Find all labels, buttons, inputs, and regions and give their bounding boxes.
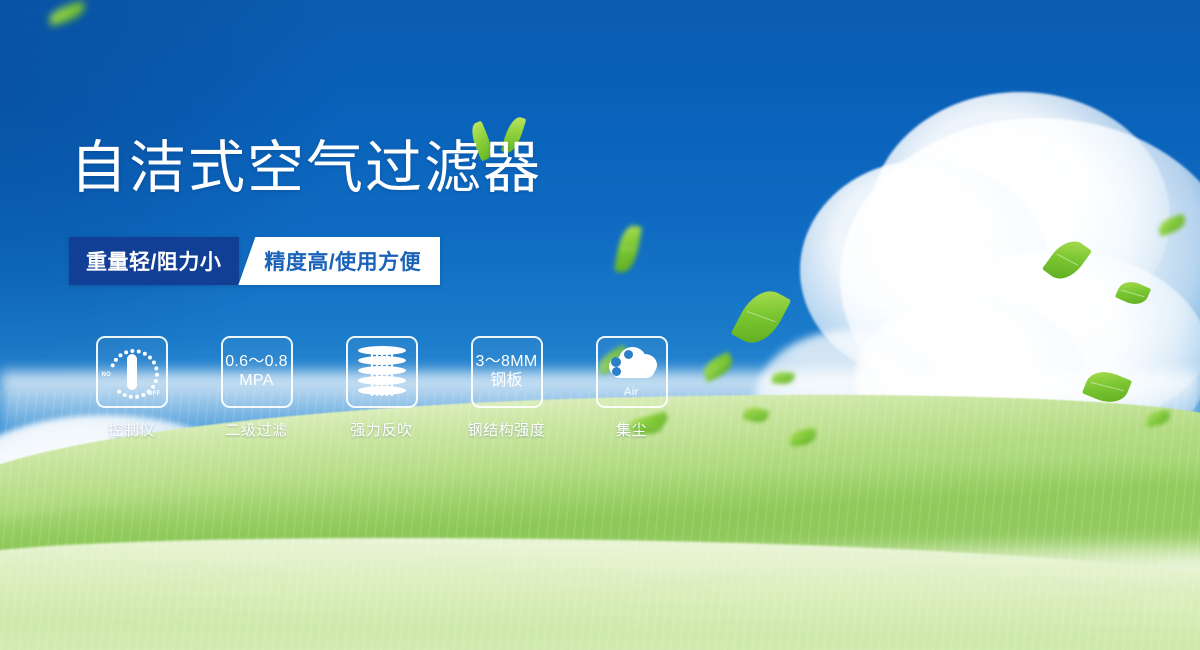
- control-dial-icon: NO OFF: [103, 344, 161, 400]
- feature-caption: 控制仪: [108, 419, 155, 440]
- feature-icon-box: [346, 336, 418, 408]
- dial-pointer: [127, 354, 137, 390]
- feature-item-two-stage-filter[interactable]: 0.6〜0.8 MPA 二级过滤: [194, 336, 319, 440]
- feature-item-control-meter[interactable]: NO OFF: [69, 336, 194, 440]
- subtitle-bar: 重量轻/阻力小 精度高/使用方便: [69, 237, 440, 285]
- blowback-coil-icon: [358, 344, 406, 400]
- pressure-value-line2: MPA: [239, 372, 273, 391]
- banner-title: 自洁式空气过滤器: [70, 140, 542, 197]
- feature-caption: 二级过滤: [225, 419, 287, 440]
- feature-item-strong-blowback[interactable]: 强力反吹: [319, 336, 444, 440]
- feature-icon-box: Air: [596, 336, 668, 408]
- feature-icon-box: 3〜8MM 钢板: [471, 336, 543, 408]
- subtitle-left-tag: 重量轻/阻力小: [69, 237, 239, 285]
- feature-item-dust-collection[interactable]: Air 集尘: [569, 336, 694, 440]
- dial-on-label: NO: [102, 372, 112, 378]
- feature-icon-box: NO OFF: [96, 336, 168, 408]
- feature-icon-box: 0.6〜0.8 MPA: [221, 336, 293, 408]
- subtitle-right-tag: 精度高/使用方便: [238, 237, 440, 285]
- feature-item-steel-strength[interactable]: 3〜8MM 钢板 钢结构强度: [444, 336, 569, 440]
- feature-caption: 强力反吹: [350, 419, 412, 440]
- air-cloud-icon: [605, 345, 659, 385]
- product-banner: 自洁式空气过滤器 重量轻/阻力小 精度高/使用方便 NO OFF: [0, 0, 1200, 650]
- feature-caption: 集尘: [616, 419, 647, 440]
- steel-value-line2: 钢板: [490, 372, 523, 391]
- pressure-value-line1: 0.6〜0.8: [225, 353, 288, 372]
- feature-caption: 钢结构强度: [467, 419, 545, 440]
- air-label: Air: [624, 386, 639, 398]
- banner-content: 自洁式空气过滤器 重量轻/阻力小 精度高/使用方便 NO OFF: [0, 0, 1200, 650]
- feature-list: NO OFF: [69, 336, 694, 440]
- steel-value-line1: 3〜8MM: [476, 353, 538, 372]
